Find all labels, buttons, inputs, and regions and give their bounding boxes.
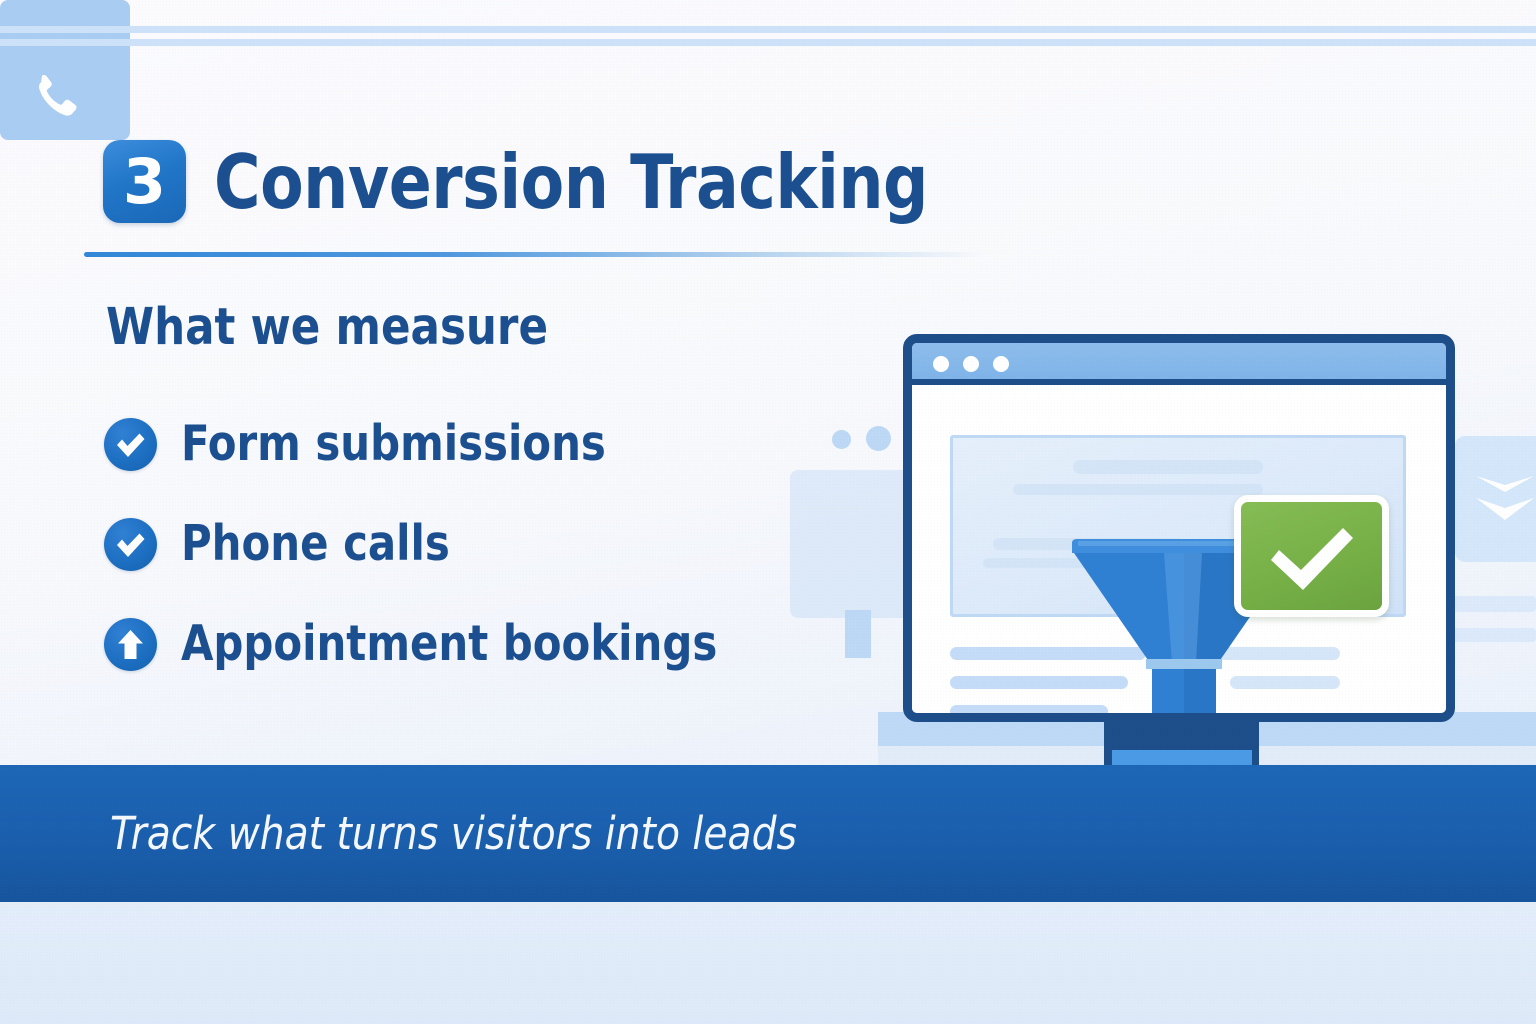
decor-bar	[0, 26, 130, 33]
decor-bar	[0, 39, 130, 46]
arrow-up-circle-icon	[104, 618, 157, 671]
green-check-card-icon	[1234, 495, 1389, 617]
list-item-label: Form submissions	[181, 416, 606, 472]
window-dot	[933, 356, 949, 372]
placeholder-bar	[1073, 460, 1263, 474]
browser-viewport	[912, 385, 1446, 713]
decor-card-stand	[845, 610, 871, 658]
list-item-label: Appointment bookings	[181, 616, 717, 672]
measure-list: Form submissions Phone calls Appointment…	[104, 408, 745, 708]
browser-titlebar	[912, 343, 1446, 385]
section-subheading: What we measure	[106, 298, 548, 358]
decor-dot	[866, 426, 891, 451]
slide-header: 3 Conversion Tracking	[103, 140, 974, 223]
check-circle-icon	[104, 518, 157, 571]
list-item: Appointment bookings	[104, 608, 745, 680]
placeholder-bar	[1013, 484, 1263, 495]
page-title: Conversion Tracking	[214, 141, 928, 223]
decor-dot	[832, 430, 851, 449]
double-chevron-down-icon	[1468, 462, 1536, 534]
step-number-badge: 3	[103, 140, 186, 223]
phone-icon	[26, 68, 84, 126]
window-dot	[993, 356, 1009, 372]
list-item-label: Phone calls	[181, 516, 450, 572]
list-item: Phone calls	[104, 508, 745, 580]
window-dot	[963, 356, 979, 372]
bottom-strip	[0, 902, 1536, 1024]
footer-banner-text: Track what turns visitors into leads	[110, 808, 797, 860]
list-item: Form submissions	[104, 408, 745, 480]
slide-canvas: 3 Conversion Tracking What we measure Fo…	[0, 0, 1536, 1024]
monitor-illustration	[903, 334, 1455, 722]
footer-banner: Track what turns visitors into leads	[0, 765, 1536, 902]
check-circle-icon	[104, 418, 157, 471]
decor-phone-card	[0, 0, 130, 140]
header-divider	[84, 252, 984, 257]
